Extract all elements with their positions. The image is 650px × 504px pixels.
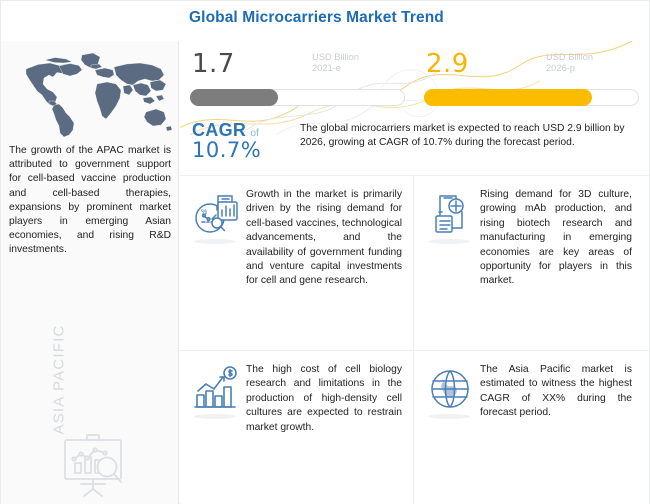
progress-bar-2021 (190, 89, 405, 106)
stat-year: 2026-p (546, 63, 642, 74)
stat-year: 2021-e (312, 63, 408, 74)
card-market-growth-drivers: % Growth in the market is primarily driv… (180, 175, 414, 350)
stat-unit: USD Billion (546, 52, 642, 63)
cagr-summary: The global microcarriers market is expec… (300, 122, 642, 151)
market-analytics-chart-icon: % (192, 190, 240, 238)
stat-unit: USD Billion (312, 52, 408, 63)
globe-icon (426, 365, 474, 413)
stat-caption: USD Billion 2026-p (546, 52, 642, 75)
page-title: Global Microcarriers Market Trend (189, 9, 444, 27)
progress-bar-fill (190, 89, 278, 106)
sidebar-description: The growth of the APAC market is attribu… (9, 144, 171, 258)
sidebar: The growth of the APAC market is attribu… (1, 41, 179, 504)
cell-culture-flask-icon (426, 190, 474, 238)
stat-value: 2.9 (426, 49, 469, 79)
card-opportunities: Rising demand for 3D culture, growing mA… (414, 175, 649, 350)
world-map-icon (7, 49, 173, 141)
stat-caption: USD Billion 2021-e (312, 52, 408, 75)
icon-shadow (194, 239, 236, 244)
presentation-board-magnifier-icon (57, 426, 131, 500)
card-text: Rising demand for 3D culture, growing mA… (480, 188, 632, 289)
progress-bar-fill (424, 89, 592, 106)
stat-value: 1.7 (192, 49, 235, 79)
cagr-percent: 10.7% (192, 138, 294, 162)
svg-text:%: % (201, 209, 207, 216)
icon-shadow (428, 239, 470, 244)
cards-grid: % Growth in the market is primarily driv… (180, 175, 649, 504)
infographic-root: Global Microcarriers Market Trend (0, 0, 650, 504)
icon-shadow (428, 414, 470, 419)
header: Global Microcarriers Market Trend (1, 1, 649, 41)
card-restraints: The high cost of cell biology research a… (180, 350, 414, 504)
card-text: The Asia Pacific market is estimated to … (480, 363, 632, 421)
cagr-row: CAGRof 10.7% The global microcarriers ma… (180, 120, 649, 175)
bar-chart-dollar-icon (192, 365, 240, 413)
progress-bar-2026 (424, 89, 639, 106)
card-text: Growth in the market is primarily driven… (246, 188, 402, 289)
cagr-block: CAGRof 10.7% (192, 120, 294, 162)
icon-shadow (194, 414, 236, 419)
card-regional-insight: The Asia Pacific market is estimated to … (414, 350, 649, 504)
card-text: The high cost of cell biology research a… (246, 363, 402, 435)
